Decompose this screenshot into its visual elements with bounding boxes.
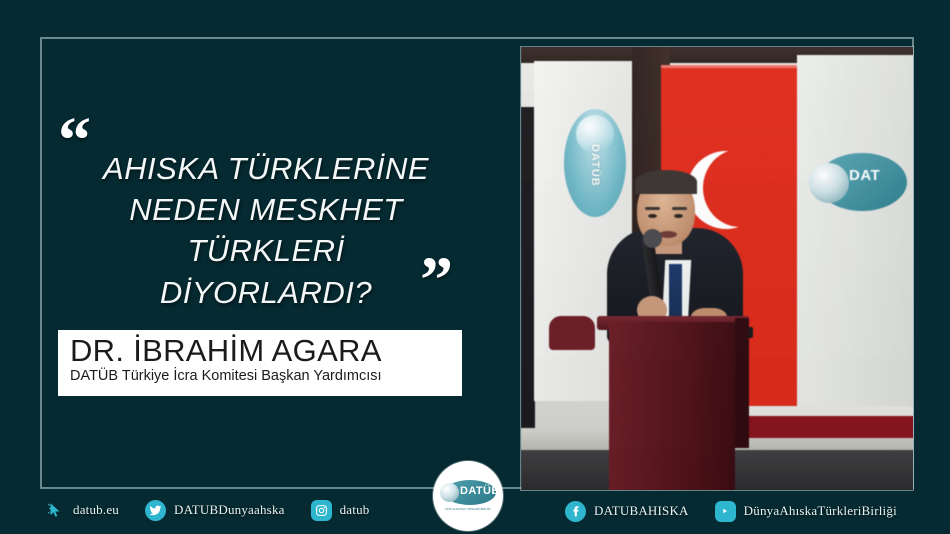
quote-close-mark: ” (420, 248, 453, 314)
photo-overlay (521, 47, 913, 490)
datub-badge-tagline: DÜNYA AHISKA TÜRKLERİ BİRLİĞİ (441, 508, 495, 512)
datub-badge: DATÜB DÜNYA AHISKA TÜRKLERİ BİRLİĞİ (433, 461, 503, 531)
datub-badge-logo-icon: DATÜB (440, 480, 496, 506)
twitter-label: DATUBDunyaahska (174, 502, 285, 518)
youtube-link[interactable]: DünyaAhıskaTürkleriBirliği (715, 501, 897, 522)
speaker-name: DR. İBRAHİM AGARA (58, 334, 462, 369)
instagram-label: datub (340, 502, 370, 518)
facebook-icon (565, 501, 586, 522)
facebook-link[interactable]: DATUBAHISKA (565, 501, 689, 522)
youtube-label: DünyaAhıskaTürkleriBirliği (744, 503, 897, 519)
youtube-icon (715, 501, 736, 522)
website-link[interactable]: datub.eu (44, 500, 119, 521)
promo-graphic: DATÜB DAT (0, 0, 950, 534)
speaker-title: DATÜB Türkiye İcra Komitesi Başkan Yardı… (58, 369, 462, 385)
datub-badge-wordmark: DATÜB (460, 485, 500, 497)
cursor-icon (44, 500, 65, 521)
instagram-icon (311, 500, 332, 521)
social-links-left: datub.eu DATUBDunyaahska datub (44, 498, 370, 522)
facebook-label: DATUBAHISKA (594, 503, 689, 519)
social-links-right: DATUBAHISKA DünyaAhıskaTürkleriBirliği (565, 499, 897, 523)
quote-text: AHISKA TÜRKLERİNE NEDEN MESKHET TÜRKLERİ… (56, 148, 476, 313)
instagram-link[interactable]: datub (311, 500, 370, 521)
speaker-photo: DATÜB DAT (521, 47, 913, 490)
twitter-icon (145, 500, 166, 521)
speaker-name-banner: DR. İBRAHİM AGARA DATÜB Türkiye İcra Kom… (58, 330, 462, 396)
website-label: datub.eu (73, 502, 119, 518)
twitter-link[interactable]: DATUBDunyaahska (145, 500, 285, 521)
